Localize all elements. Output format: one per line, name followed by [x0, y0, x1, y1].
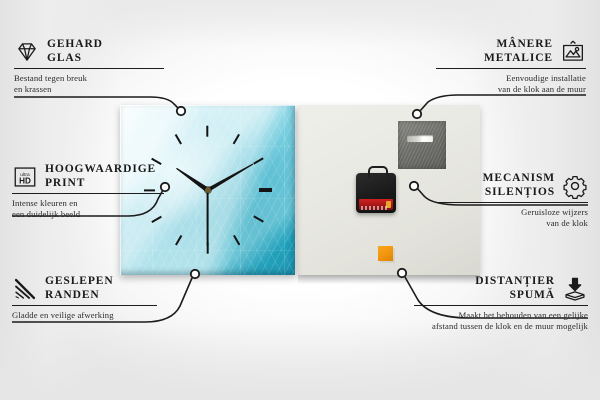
hanger-slot — [407, 135, 433, 142]
battery — [359, 199, 393, 210]
ultra-hd-icon: ultra HD — [12, 164, 38, 190]
callout-rule — [12, 193, 164, 194]
metal-hanger — [398, 121, 446, 169]
silent-quartz-movement — [356, 173, 396, 213]
callout-rule — [12, 305, 157, 306]
battery-label — [361, 206, 387, 210]
callout-foam-spacer: DISTANȚIER SPUMĂ Maakt het behouden van … — [414, 275, 588, 332]
callout-description: Bestand tegen breuk en krassen — [14, 73, 164, 95]
picture-hanger-icon — [560, 39, 586, 65]
gear-icon — [562, 173, 588, 199]
callout-description: Geruisloze wijzers van de klok — [438, 207, 588, 229]
callout-metal-handles: MÂNERE METALICE Eenvoudige installatie v… — [436, 38, 586, 95]
callout-silent-mechanism: MECANISM SILENȚIOS Geruisloze wijzers va… — [438, 172, 588, 229]
press-down-foam-icon — [562, 276, 588, 302]
callout-title: MÂNERE METALICE — [484, 38, 553, 65]
movement-hanging-loop — [368, 166, 388, 178]
callout-rule — [414, 305, 588, 306]
callout-header: MÂNERE METALICE — [436, 38, 586, 65]
callout-rule — [14, 68, 164, 69]
infographic-canvas: GEHARD GLAS Bestand tegen breuk en krass… — [0, 0, 600, 400]
diamond-icon — [14, 39, 40, 65]
callout-description: Eenvoudige installatie van de klok aan d… — [436, 73, 586, 95]
callout-description: Maakt het behouden van een gelijke afsta… — [414, 310, 588, 332]
callout-polished-edges: GESLEPEN RANDEN Gladde en veilige afwerk… — [12, 275, 157, 321]
callout-title: MECANISM SILENȚIOS — [483, 172, 555, 199]
callout-header: GESLEPEN RANDEN — [12, 275, 157, 302]
callout-header: GEHARD GLAS — [14, 38, 164, 65]
callout-header: DISTANȚIER SPUMĂ — [414, 275, 588, 302]
product-image — [120, 105, 480, 275]
callout-tempered-glass: GEHARD GLAS Bestand tegen breuk en krass… — [14, 38, 164, 95]
callout-title: GEHARD GLAS — [47, 38, 103, 65]
callout-rule — [438, 202, 588, 203]
callout-header: MECANISM SILENȚIOS — [438, 172, 588, 199]
callout-hd-print: ultra HD HOOGWAARDIGE PRINT Intense kleu… — [12, 163, 164, 220]
callout-header: ultra HD HOOGWAARDIGE PRINT — [12, 163, 164, 190]
callout-title: HOOGWAARDIGE PRINT — [45, 163, 156, 190]
foam-spacer — [378, 246, 393, 261]
callout-description: Gladde en veilige afwerking — [12, 310, 157, 321]
beveled-edges-icon — [12, 276, 38, 302]
callout-title: DISTANȚIER SPUMĂ — [475, 275, 555, 302]
callout-title: GESLEPEN RANDEN — [45, 275, 114, 302]
callout-description: Intense kleuren en een duidelijk beeld — [12, 198, 164, 220]
svg-text:HD: HD — [19, 176, 31, 185]
callout-rule — [436, 68, 586, 69]
